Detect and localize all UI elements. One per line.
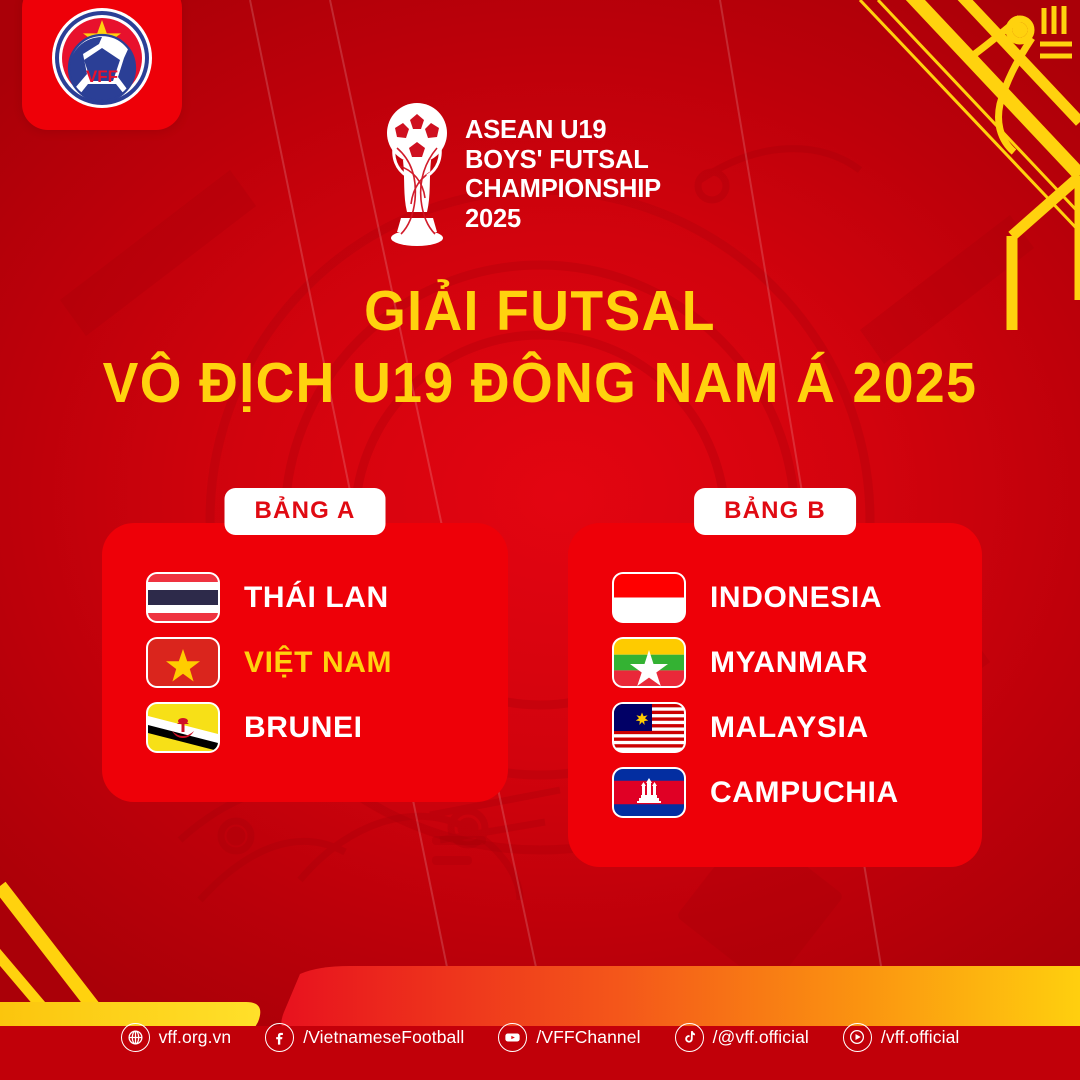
flag-vietnam xyxy=(148,639,218,686)
play-icon xyxy=(843,1023,872,1052)
group-b-chip: BẢNG B xyxy=(694,488,856,535)
social-footer: vff.org.vn /VietnameseFootball /VFFChann… xyxy=(0,994,1080,1080)
social-link-play[interactable]: /vff.official xyxy=(843,1023,959,1052)
tournament-logo-line1: ASEAN U19 xyxy=(465,116,661,146)
youtube-icon xyxy=(498,1023,527,1052)
team-row: THÁI LAN xyxy=(148,565,508,630)
team-name: MYANMAR xyxy=(710,646,868,680)
tiktok-icon xyxy=(675,1023,704,1052)
flag-malaysia xyxy=(614,704,684,751)
team-name: VIỆT NAM xyxy=(244,646,392,680)
team-name: INDONESIA xyxy=(710,581,882,615)
headline-line2: VÔ ĐỊCH U19 ĐÔNG NAM Á 2025 xyxy=(32,355,1047,412)
team-row: MALAYSIA xyxy=(614,695,982,760)
group-a-panel: THÁI LAN VIỆT NAM BRUNEI xyxy=(102,523,508,802)
social-link-label: /VietnameseFootball xyxy=(303,1027,464,1048)
social-link-youtube[interactable]: /VFFChannel xyxy=(498,1023,640,1052)
social-link-label: /vff.official xyxy=(881,1027,959,1048)
social-link-tiktok[interactable]: /@vff.official xyxy=(675,1023,809,1052)
page-title: GIẢI FUTSAL VÔ ĐỊCH U19 ĐÔNG NAM Á 2025 xyxy=(0,283,1080,412)
team-row: INDONESIA xyxy=(614,565,982,630)
vff-emblem-icon: VFF xyxy=(50,6,154,110)
team-name: THÁI LAN xyxy=(244,581,389,615)
tournament-logo: ASEAN U19 BOYS' FUTSAL CHAMPIONSHIP 2025 xyxy=(385,100,661,250)
poster-canvas: VFF xyxy=(0,0,1080,1080)
facebook-icon xyxy=(265,1023,294,1052)
flag-brunei xyxy=(148,704,218,751)
flag-cambodia xyxy=(614,769,684,816)
svg-text:VFF: VFF xyxy=(86,67,118,86)
headline-line1: GIẢI FUTSAL xyxy=(32,283,1047,340)
social-link-label: vff.org.vn xyxy=(159,1027,232,1048)
team-name: CAMPUCHIA xyxy=(710,776,899,810)
social-link-facebook[interactable]: /VietnameseFootball xyxy=(265,1023,464,1052)
crane-comb-icon xyxy=(1040,6,1072,56)
flag-thailand xyxy=(148,574,218,621)
team-name: BRUNEI xyxy=(244,711,363,745)
group-b-panel: INDONESIA MYANMAR MALAYSIA CAMPUCHIA xyxy=(568,523,982,867)
social-link-label: /VFFChannel xyxy=(536,1027,640,1048)
globe-icon xyxy=(121,1023,150,1052)
group-a-chip: BẢNG A xyxy=(225,488,386,535)
team-row: VIỆT NAM xyxy=(148,630,508,695)
tournament-logo-line3: CHAMPIONSHIP xyxy=(465,175,661,205)
social-link-globe[interactable]: vff.org.vn xyxy=(121,1023,232,1052)
team-row: MYANMAR xyxy=(614,630,982,695)
flag-indonesia xyxy=(614,574,684,621)
team-row: CAMPUCHIA xyxy=(614,760,982,825)
social-link-label: /@vff.official xyxy=(713,1027,809,1048)
tournament-logo-line4: 2025 xyxy=(465,205,661,235)
team-name: MALAYSIA xyxy=(710,711,869,745)
vff-logo: VFF xyxy=(22,0,182,130)
flag-myanmar xyxy=(614,639,684,686)
team-row: BRUNEI xyxy=(148,695,508,760)
futsal-trophy-icon xyxy=(385,100,449,250)
tournament-logo-line2: BOYS' FUTSAL xyxy=(465,146,661,176)
